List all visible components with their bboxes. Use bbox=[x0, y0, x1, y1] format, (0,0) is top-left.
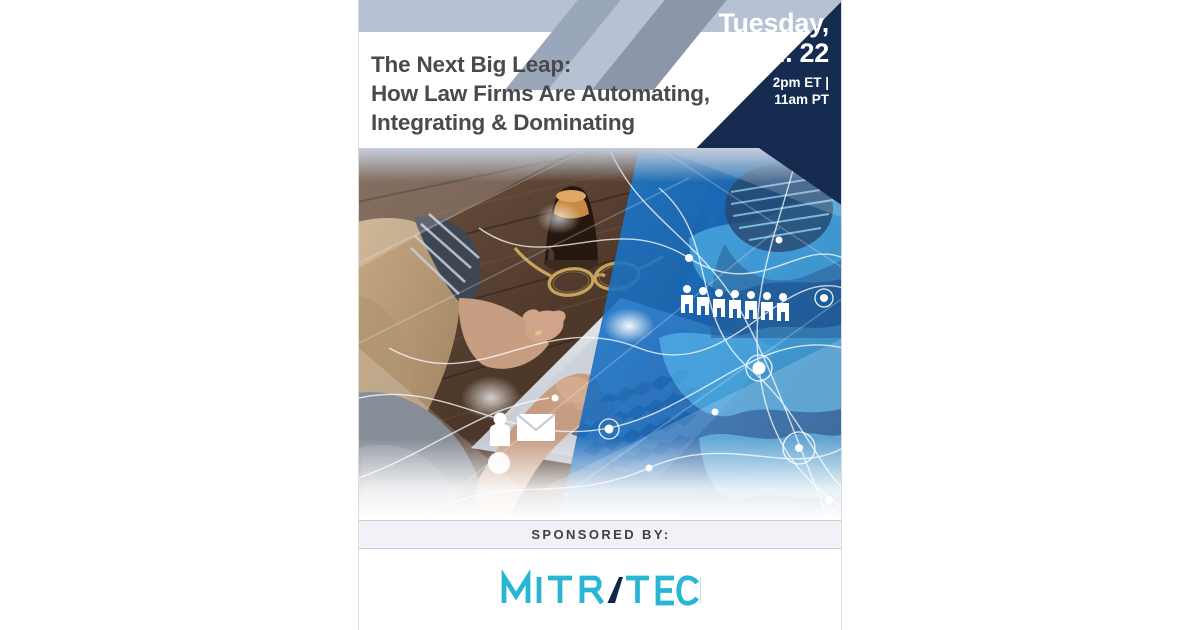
event-date-label: Jul. 22 bbox=[689, 38, 829, 68]
logo-letter-a bbox=[608, 577, 624, 603]
event-day-label: Tuesday, bbox=[689, 8, 829, 38]
event-time-line-1: 2pm ET | bbox=[689, 75, 829, 91]
envelope-icon bbox=[517, 414, 555, 441]
event-time-line-2: 11am PT bbox=[689, 92, 829, 108]
hero-photo bbox=[359, 148, 842, 520]
sponsor-logo-region bbox=[359, 549, 842, 630]
event-date-block: Tuesday, Jul. 22 2pm ET | 11am PT bbox=[689, 8, 829, 108]
sponsored-by-band: SPONSORED BY: bbox=[359, 520, 842, 549]
mitratech-logo[interactable] bbox=[501, 570, 701, 610]
title-line-3: Integrating & Dominating bbox=[371, 108, 731, 137]
sponsored-by-label: SPONSORED BY: bbox=[531, 527, 670, 542]
page-title: The Next Big Leap: How Law Firms Are Aut… bbox=[371, 50, 731, 137]
hero-photo-illustration bbox=[359, 148, 842, 520]
card-header: Tuesday, Jul. 22 2pm ET | 11am PT The Ne… bbox=[359, 0, 842, 150]
title-line-1: The Next Big Leap: bbox=[371, 50, 731, 79]
promo-card: Tuesday, Jul. 22 2pm ET | 11am PT The Ne… bbox=[358, 0, 842, 630]
title-line-2: How Law Firms Are Automating, bbox=[371, 79, 731, 108]
